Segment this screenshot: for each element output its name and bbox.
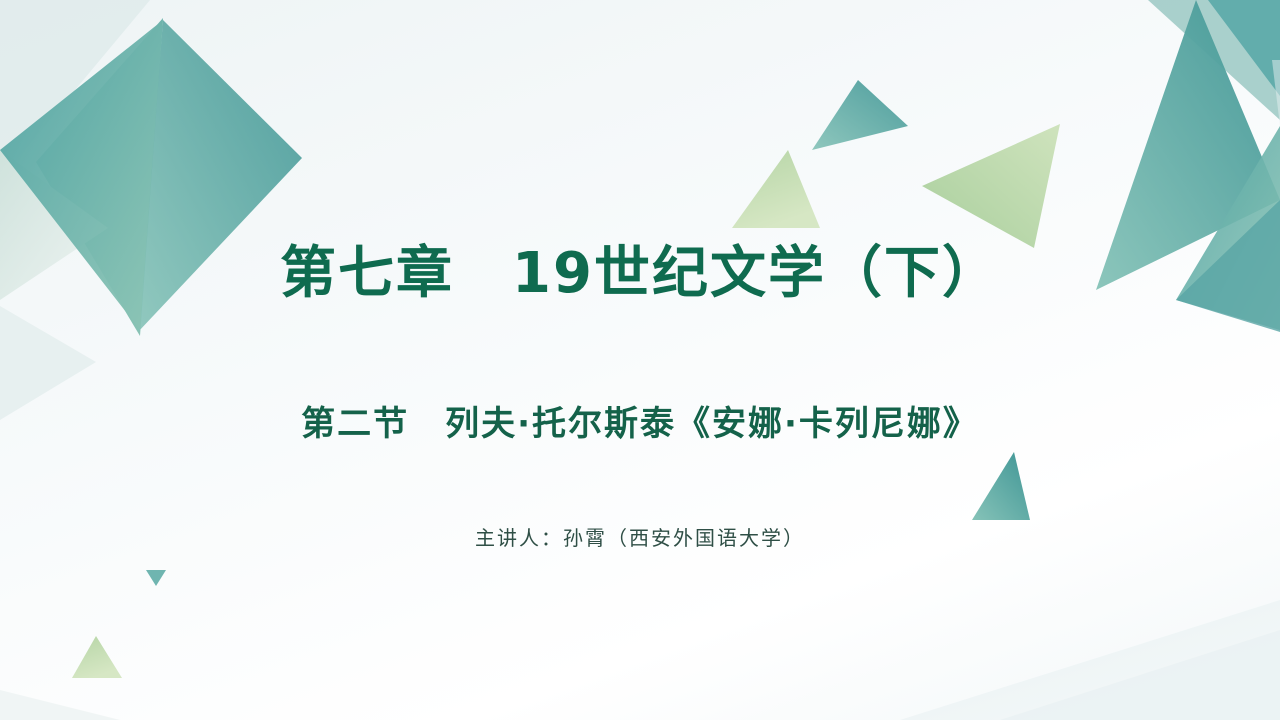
slide-content: 第七章 19世纪文学（下） 第二节 列夫·托尔斯泰《安娜·卡列尼娜》 主讲人：孙… <box>0 0 1280 720</box>
page-title: 第七章 19世纪文学（下） <box>0 228 1280 309</box>
presentation-slide: 第七章 19世纪文学（下） 第二节 列夫·托尔斯泰《安娜·卡列尼娜》 主讲人：孙… <box>0 0 1280 720</box>
section-subtitle: 第二节 列夫·托尔斯泰《安娜·卡列尼娜》 <box>0 396 1280 445</box>
presenter-line: 主讲人：孙霄（西安外国语大学） <box>0 522 1280 551</box>
